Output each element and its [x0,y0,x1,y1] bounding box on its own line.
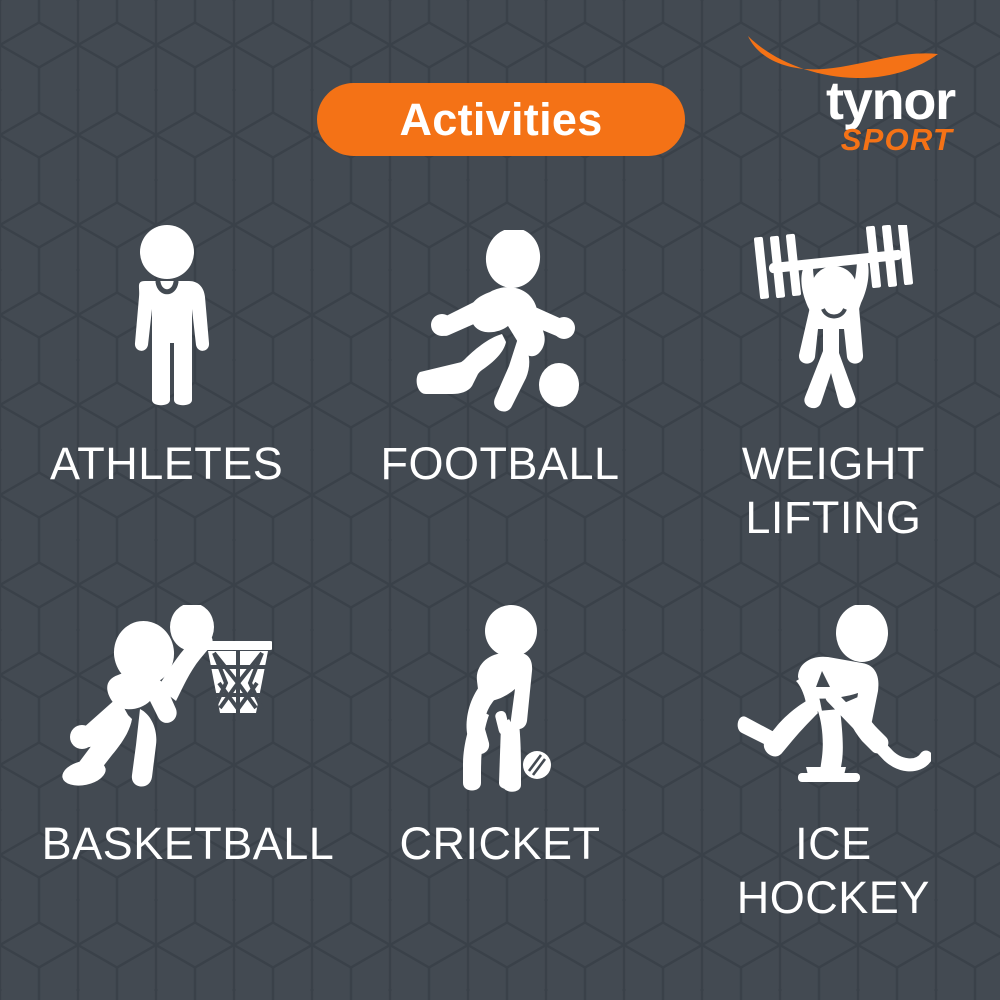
logo-wordmark: tynor [740,76,955,127]
activity-label: CRICKET [399,817,600,871]
athlete-icon [112,200,222,415]
activity-card-ice-hockey[interactable]: ICE HOCKEY [667,580,1000,960]
logo-tagline: SPORT [740,124,955,155]
activity-label: BASKETBALL [42,817,292,871]
activity-card-football[interactable]: FOOTBALL [333,200,666,580]
activity-card-cricket[interactable]: CRICKET [333,580,666,960]
tynor-sport-logo: tynor SPORT [740,32,955,162]
activity-card-basketball[interactable]: BASKETBALL [0,580,333,960]
poster-header: Activities tynor SPORT [0,0,1000,185]
activity-card-weight-lifting[interactable]: WEIGHT LIFTING [667,200,1000,580]
football-icon [412,200,587,415]
basketball-icon [62,580,272,795]
activities-poster: Activities tynor SPORT [0,0,1000,1000]
activity-label: ICE HOCKEY [708,817,958,925]
activity-label: ATHLETES [50,437,283,491]
weightlifting-icon [751,200,916,415]
activities-title-badge: Activities [317,83,685,156]
page-title: Activities [399,97,602,142]
ice-hockey-icon [736,580,931,795]
activity-label: FOOTBALL [380,437,619,491]
activity-card-athletes[interactable]: ATHLETES [0,200,333,580]
activities-grid: ATHLETES [0,200,1000,960]
activity-label: WEIGHT LIFTING [708,437,958,545]
cricket-icon [435,580,565,795]
